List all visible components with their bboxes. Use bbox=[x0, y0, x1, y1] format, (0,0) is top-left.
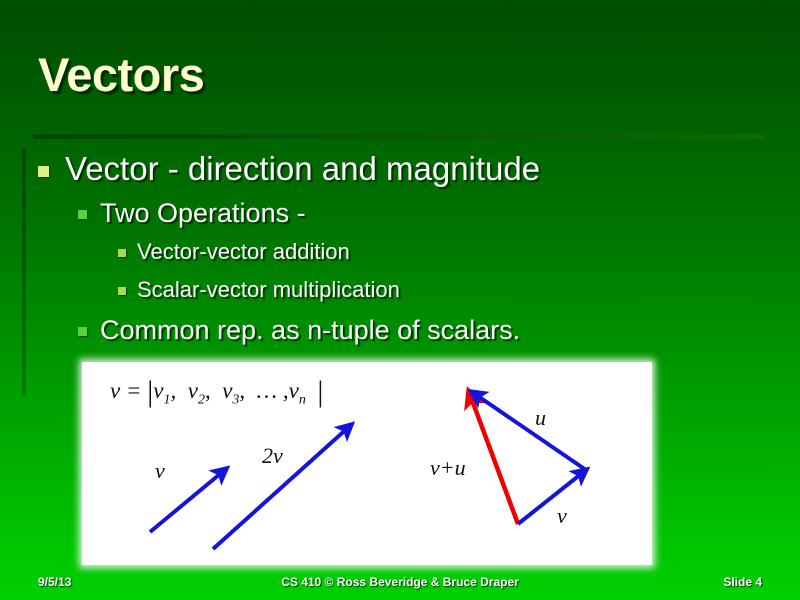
bullet-text: Scalar-vector multiplication bbox=[137, 277, 400, 303]
label-vector-v-addition: v bbox=[557, 503, 567, 529]
label-vector-v-plus-u: v+u bbox=[430, 455, 466, 481]
formula-term-2: v bbox=[188, 378, 198, 403]
formula-ellipsis: … bbox=[257, 378, 277, 403]
bullet-text: Common rep. as n-tuple of scalars. bbox=[100, 315, 520, 346]
formula-term-n-subscript: n bbox=[299, 393, 306, 408]
bullet-item-level3: Vector-vector addition bbox=[118, 239, 350, 265]
bullet-item-level2: Common rep. as n-tuple of scalars. bbox=[78, 315, 520, 346]
presentation-slide: Vectors Vector - direction and magnitude… bbox=[0, 0, 800, 600]
footer-copyright: CS 410 © Ross Beveridge & Bruce Draper bbox=[0, 575, 800, 589]
formula-term-3: v bbox=[222, 378, 232, 403]
label-vector-v: v bbox=[155, 458, 165, 484]
bullet-text: Two Operations - bbox=[100, 198, 306, 229]
bullet-square-icon bbox=[118, 249, 126, 257]
bullet-square-icon bbox=[78, 210, 87, 219]
vector-formula: v = |v1, v2, v3, … ,vn | bbox=[110, 372, 323, 409]
bullet-text: Vector-vector addition bbox=[137, 239, 350, 265]
bullet-text: Vector - direction and magnitude bbox=[65, 150, 540, 188]
slide-title: Vectors bbox=[38, 47, 204, 102]
formula-lhs: v bbox=[110, 378, 120, 403]
bullet-square-icon bbox=[118, 287, 126, 295]
bullet-square-icon bbox=[38, 166, 49, 177]
bullet-item-level2: Two Operations - bbox=[78, 198, 306, 229]
bullet-square-icon bbox=[78, 327, 87, 336]
formula-term-1-subscript: 1 bbox=[163, 393, 170, 408]
formula-term-2-subscript: 2 bbox=[198, 393, 205, 408]
formula-equals: = bbox=[126, 378, 142, 403]
footer-slide-number: Slide 4 bbox=[723, 575, 762, 589]
bullet-item-level1: Vector - direction and magnitude bbox=[38, 150, 540, 188]
formula-term-1: v bbox=[153, 378, 163, 403]
bullet-item-level3: Scalar-vector multiplication bbox=[118, 277, 400, 303]
formula-term-n: v bbox=[289, 378, 299, 403]
label-vector-2v: 2v bbox=[262, 443, 283, 469]
title-divider-line bbox=[33, 134, 765, 139]
label-vector-u: u bbox=[535, 405, 546, 431]
white-content-panel: v = |v1, v2, v3, … ,vn | bbox=[82, 362, 652, 565]
left-accent-rule bbox=[22, 148, 26, 396]
formula-open-bar: | bbox=[147, 375, 153, 408]
formula-close-bar: | bbox=[317, 375, 323, 408]
formula-term-3-subscript: 3 bbox=[232, 393, 239, 408]
